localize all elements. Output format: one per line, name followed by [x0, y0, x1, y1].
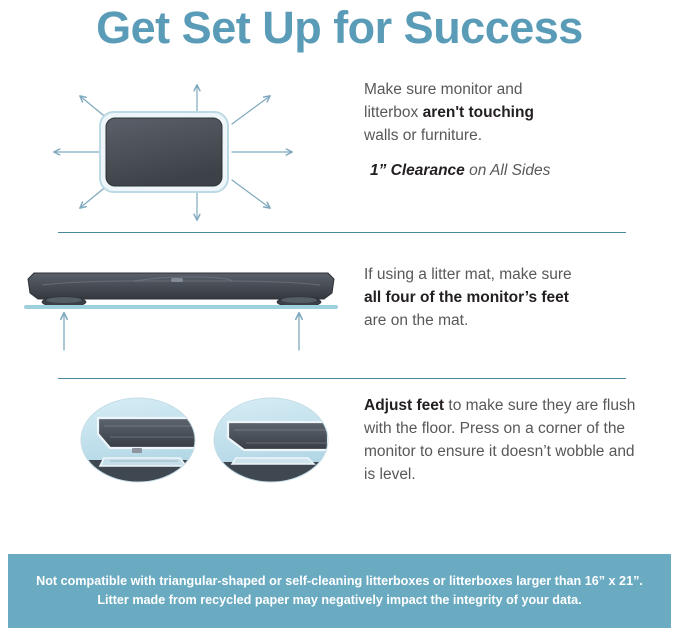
monitor-side-view-on-mat-with-up-arrows-icon — [16, 245, 346, 370]
copy-clearance: Make sure monitor and litterbox aren't t… — [364, 78, 644, 182]
copy-line-3: are on the mat. — [364, 312, 468, 329]
illustration-clearance — [42, 78, 352, 228]
copy-line-2-pre: litterbox — [364, 104, 423, 121]
copy-emphasis: 1” Clearance on All Sides — [364, 159, 644, 182]
copy-line-3: walls or furniture. — [364, 127, 482, 144]
copy-line-2-bold: aren't touching — [423, 104, 534, 121]
copy-line-1: If using a litter mat, make sure — [364, 266, 572, 283]
illustration-litter-mat — [16, 245, 346, 370]
section-clearance: Make sure monitor and litterbox aren't t… — [0, 78, 679, 228]
illustration-adjust-feet — [76, 388, 336, 498]
two-oval-closeups-of-monitor-feet-icon — [76, 388, 336, 498]
copy-line-1: Make sure monitor and — [364, 81, 523, 98]
copy-emphasis-bold: 1” Clearance — [370, 162, 465, 179]
page-title: Get Set Up for Success — [0, 2, 679, 54]
copy-adjust-feet: Adjust feet to make sure they are flush … — [364, 394, 650, 486]
divider-1 — [58, 232, 626, 233]
section-adjust-feet: Adjust feet to make sure they are flush … — [0, 388, 679, 498]
monitor-top-view-with-outward-arrows-icon — [42, 78, 352, 228]
footnote-line-2: Litter made from recycled paper may nega… — [97, 593, 581, 607]
copy-line-2-bold: all four of the monitor’s feet — [364, 289, 569, 306]
copy-litter-mat: If using a litter mat, make sure all fou… — [364, 263, 644, 332]
footnote-banner: Not compatible with triangular-shaped or… — [8, 554, 671, 628]
copy-lead-bold: Adjust feet — [364, 397, 444, 414]
section-litter-mat: If using a litter mat, make sure all fou… — [0, 245, 679, 370]
footnote-line-1: Not compatible with triangular-shaped or… — [36, 574, 643, 588]
copy-emphasis-rest: on All Sides — [465, 162, 551, 179]
divider-2 — [58, 378, 626, 379]
footnote-lines: Not compatible with triangular-shaped or… — [36, 572, 643, 610]
